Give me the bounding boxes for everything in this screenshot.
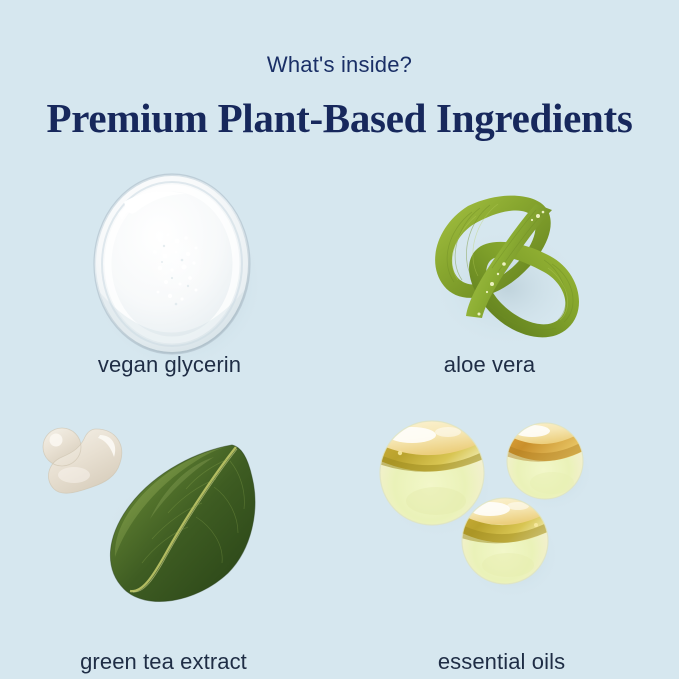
ingredient-label: aloe vera [320,352,659,378]
ingredient-label: essential oils [332,649,671,675]
ingredient-label: vegan glycerin [0,352,339,378]
ingredient-grid: vegan glycerin [0,168,679,668]
header: What's inside? Premium Plant-Based Ingre… [0,0,679,142]
eyebrow-text: What's inside? [0,52,679,78]
essential-oil-droplets-icon [340,413,679,608]
ingredient-card-vegan-glycerin: vegan glycerin [0,168,339,418]
green-tea-leaf-icon [0,413,339,608]
ingredient-label: green tea extract [0,649,333,675]
ingredient-card-green-tea-extract: green tea extract [0,413,339,663]
page-title: Premium Plant-Based Ingredients [0,94,679,142]
aloe-leaf-curl-icon [340,168,679,363]
cream-droplets [43,428,122,493]
glycerin-gel-blob-icon [0,168,339,363]
ingredients-infographic: What's inside? Premium Plant-Based Ingre… [0,0,679,679]
ingredient-card-aloe-vera: aloe vera [340,168,679,418]
ingredient-card-essential-oils: essential oils [340,413,679,663]
